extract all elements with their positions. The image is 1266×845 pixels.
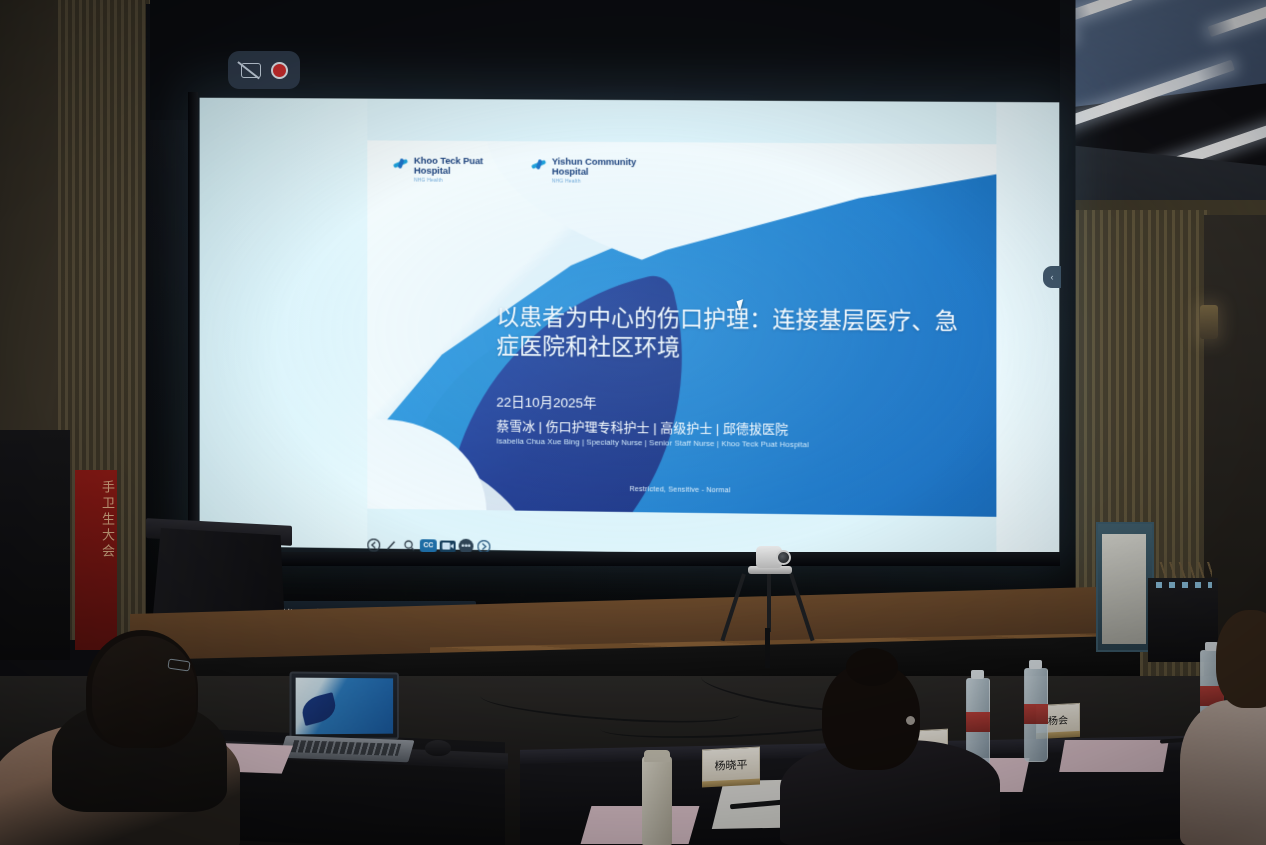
- logo-khoo-teck-puat: Khoo Teck Puat Hospital NHG Health: [393, 156, 483, 184]
- hospital-logo-mark-icon: [393, 157, 409, 173]
- av-equipment-buttons: [1156, 582, 1212, 588]
- bottle-label: [966, 712, 990, 732]
- laptop-screen: [290, 672, 399, 741]
- hospital-logo-mark-icon: [531, 158, 547, 174]
- equipment-rack-door: [1102, 534, 1146, 644]
- screen-bezel-bottom: [190, 552, 1060, 566]
- thermos: [642, 756, 672, 845]
- audience-member-head: [1216, 610, 1266, 708]
- slide-date: 22日10月2025年: [496, 391, 596, 412]
- red-banner: 手卫生大会: [75, 470, 117, 650]
- video-muted-icon[interactable]: [241, 63, 261, 78]
- closed-caption-icon[interactable]: CC: [420, 539, 437, 552]
- bottle-cap: [1029, 660, 1042, 669]
- audience-member-head: [92, 636, 196, 748]
- computer-mouse[interactable]: [425, 740, 451, 756]
- laptop-slide-mirror: [296, 678, 393, 735]
- tripod-base: [765, 628, 770, 668]
- left-cabinet: [0, 430, 70, 660]
- previous-arrow-icon[interactable]: [366, 537, 381, 552]
- logo-subtitle: NHG Health: [552, 179, 636, 185]
- pen-icon[interactable]: [384, 538, 399, 553]
- logo-name-line2: Hospital: [414, 167, 483, 177]
- notepad: [1059, 740, 1169, 772]
- audience-member-body: [1180, 700, 1266, 845]
- meeting-control-pill[interactable]: [228, 51, 300, 89]
- logo-name-line2: Hospital: [552, 167, 636, 178]
- wall-lamp: [1200, 305, 1218, 339]
- projection-left-margin: [200, 98, 368, 549]
- camera-icon[interactable]: [440, 540, 456, 552]
- slide-title: 以患者为中心的伤口护理：连接基层医疗、急症医院和社区环境: [496, 303, 968, 365]
- thermos-cap: [644, 750, 670, 762]
- slide-presenter-chinese: 蔡雪冰 | 伤口护理专科护士 | 高级护士 | 邱德拔医院: [496, 416, 788, 438]
- presentation-slide: Khoo Teck Puat Hospital NHG Health Yishu…: [367, 140, 996, 516]
- tripod-column: [767, 574, 771, 632]
- screen-bezel-left: [188, 92, 198, 562]
- red-banner-text: 手卫生大会: [75, 480, 117, 560]
- magnifier-icon[interactable]: [402, 538, 417, 553]
- bottle-label: [1024, 704, 1048, 724]
- bottle-cap: [971, 670, 984, 679]
- projection-right-margin: [996, 102, 1059, 558]
- projection-screen: Khoo Teck Puat Hospital NHG Health Yishu…: [200, 98, 1060, 558]
- conference-room-scene: Khoo Teck Puat Hospital NHG Health Yishu…: [0, 0, 1266, 845]
- logo-subtitle: NHG Health: [414, 178, 483, 184]
- record-dot-icon[interactable]: [271, 62, 288, 79]
- hair-bun: [846, 648, 898, 686]
- notepad: [581, 806, 700, 844]
- logo-yishun-community: Yishun Community Hospital NHG Health: [531, 157, 636, 185]
- chevron-left-icon[interactable]: ‹: [1043, 266, 1061, 288]
- earring: [906, 716, 915, 725]
- camera-lens-icon: [776, 550, 791, 565]
- slide-logos: Khoo Teck Puat Hospital NHG Health Yishu…: [393, 156, 636, 185]
